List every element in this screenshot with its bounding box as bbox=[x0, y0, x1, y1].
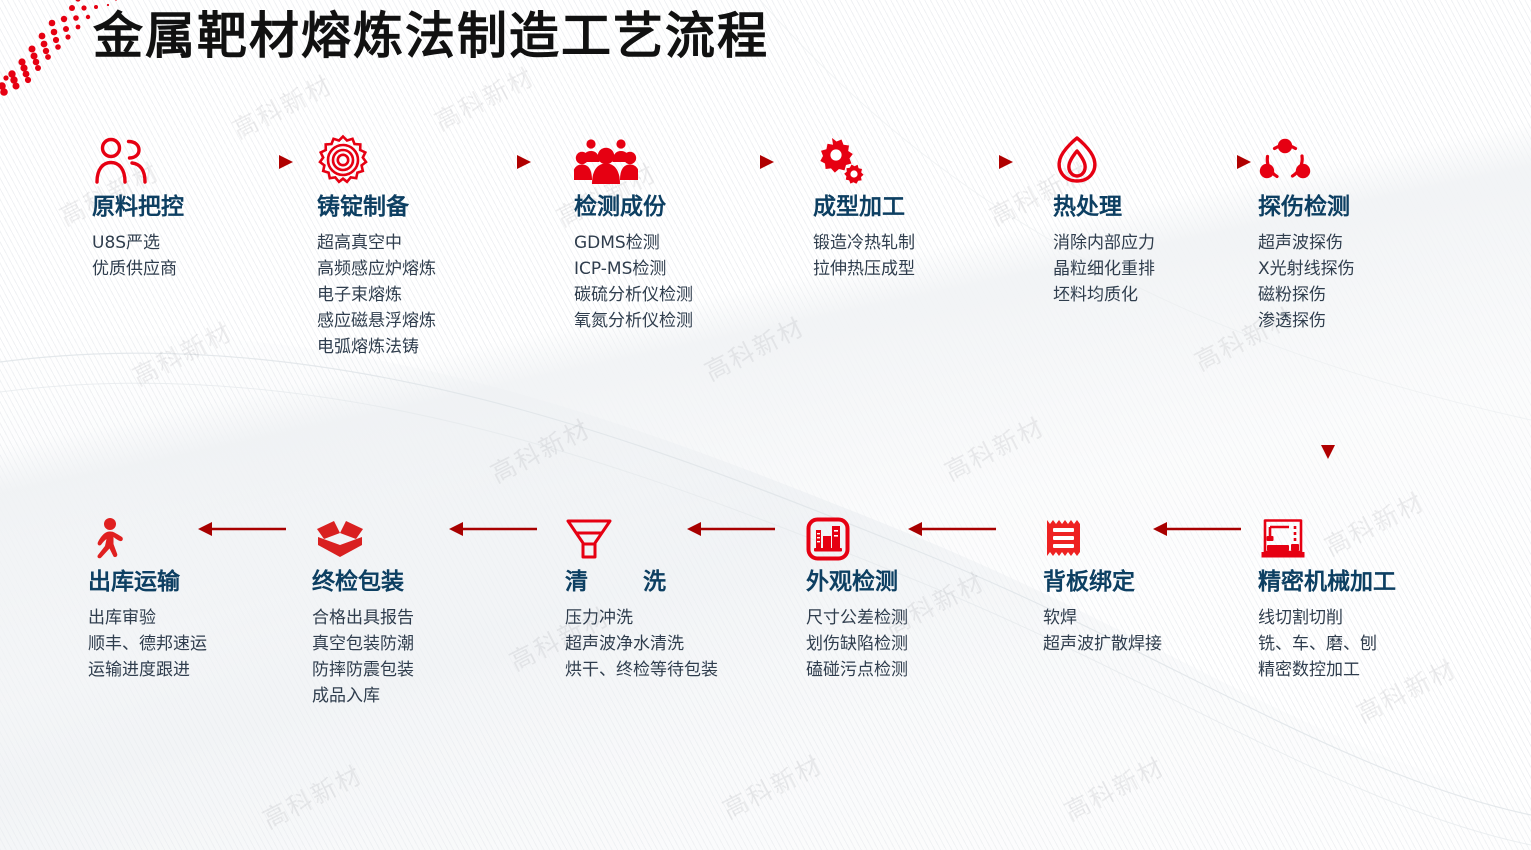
arrow-step3-to-step4 bbox=[686, 152, 776, 172]
two-gears-icon bbox=[813, 130, 915, 186]
step-item: 磁粉探伤 bbox=[1258, 282, 1355, 308]
step-item: X光射线探伤 bbox=[1258, 256, 1355, 282]
step-6[interactable]: 探伤检测 超声波探伤 X光射线探伤 磁粉探伤 渗透探伤 bbox=[1258, 130, 1355, 334]
arrow-step5-to-step6 bbox=[1163, 152, 1253, 172]
factory-badge-icon bbox=[806, 505, 908, 561]
step-4[interactable]: 成型加工 锻造冷热轧制 拉伸热压成型 bbox=[813, 130, 915, 282]
arrow-step7-to-step8 bbox=[1151, 519, 1241, 539]
step-item: 出库审验 bbox=[88, 605, 207, 631]
step-9-title: 外观检测 bbox=[806, 567, 908, 597]
step-item: 顺丰、德邦速运 bbox=[88, 631, 207, 657]
step-3-items: GDMS检测 ICP-MS检测 碳硫分析仪检测 氧氮分析仪检测 bbox=[574, 230, 693, 334]
step-item: 消除内部应力 bbox=[1053, 230, 1155, 256]
step-item: 超声波净水清洗 bbox=[565, 631, 718, 657]
step-5-items: 消除内部应力 晶粒细化重排 坯料均质化 bbox=[1053, 230, 1155, 308]
share-network-icon bbox=[1258, 130, 1355, 186]
step-12-items: 出库审验 顺丰、德邦速运 运输进度跟进 bbox=[88, 605, 207, 683]
step-item: 锻造冷热轧制 bbox=[813, 230, 915, 256]
step-2-items: 超高真空中 高频感应炉熔炼 电子束熔炼 感应磁悬浮熔炼 电弧熔炼法铸 bbox=[317, 230, 436, 360]
step-item: 铣、车、磨、刨 bbox=[1258, 631, 1396, 657]
two-people-icon bbox=[92, 130, 184, 186]
gear-target-icon bbox=[317, 130, 436, 186]
step-item: 优质供应商 bbox=[92, 256, 184, 282]
step-item: GDMS检测 bbox=[574, 230, 693, 256]
step-6-title: 探伤检测 bbox=[1258, 192, 1355, 222]
step-9[interactable]: 外观检测 尺寸公差检测 划伤缺陷检测 磕碰污点检测 bbox=[806, 505, 908, 683]
step-item: 超高真空中 bbox=[317, 230, 436, 256]
page-title: 金属靶材熔炼法制造工艺流程 bbox=[93, 6, 769, 66]
arrow-step4-to-step5 bbox=[925, 152, 1015, 172]
step-8[interactable]: 背板绑定 软焊 超声波扩散焊接 bbox=[1043, 505, 1162, 657]
step-item: 晶粒细化重排 bbox=[1053, 256, 1155, 282]
step-1[interactable]: 原料把控 U8S严选 优质供应商 bbox=[92, 130, 184, 282]
step-item: 渗透探伤 bbox=[1258, 308, 1355, 334]
step-5-title: 热处理 bbox=[1053, 192, 1155, 222]
arrow-step8-to-step9 bbox=[906, 519, 996, 539]
step-3-title: 检测成份 bbox=[574, 192, 693, 222]
step-item: 高频感应炉熔炼 bbox=[317, 256, 436, 282]
step-7-title: 精密机械加工 bbox=[1258, 567, 1396, 597]
arrow-step2-to-step3 bbox=[443, 152, 533, 172]
step-6-items: 超声波探伤 X光射线探伤 磁粉探伤 渗透探伤 bbox=[1258, 230, 1355, 334]
step-item: 坯料均质化 bbox=[1053, 282, 1155, 308]
step-11-title: 终检包装 bbox=[312, 567, 414, 597]
step-2[interactable]: 铸锭制备 超高真空中 高频感应炉熔炼 电子束熔炼 感应磁悬浮熔炼 电弧熔炼法铸 bbox=[317, 130, 436, 360]
step-item: 划伤缺陷检测 bbox=[806, 631, 908, 657]
people-group-icon bbox=[574, 130, 693, 186]
step-10[interactable]: 清 洗 压力冲洗 超声波净水清洗 烘干、终检等待包装 bbox=[565, 505, 718, 683]
step-1-items: U8S严选 优质供应商 bbox=[92, 230, 184, 282]
step-item: 电弧熔炼法铸 bbox=[317, 334, 436, 360]
step-4-items: 锻造冷热轧制 拉伸热压成型 bbox=[813, 230, 915, 282]
step-item: 运输进度跟进 bbox=[88, 657, 207, 683]
funnel-icon bbox=[565, 505, 718, 561]
step-item: 感应磁悬浮熔炼 bbox=[317, 308, 436, 334]
step-7-items: 线切割切削 铣、车、磨、刨 精密数控加工 bbox=[1258, 605, 1396, 683]
step-item: 电子束熔炼 bbox=[317, 282, 436, 308]
arrow-step10-to-step11 bbox=[447, 519, 537, 539]
cnc-machine-icon bbox=[1258, 505, 1396, 561]
step-item: U8S严选 bbox=[92, 230, 184, 256]
step-item: 软焊 bbox=[1043, 605, 1162, 631]
arrow-step11-to-step12 bbox=[196, 519, 286, 539]
step-12[interactable]: 出库运输 出库审验 顺丰、德邦速运 运输进度跟进 bbox=[88, 505, 207, 683]
step-item: 拉伸热压成型 bbox=[813, 256, 915, 282]
step-item: 碳硫分析仪检测 bbox=[574, 282, 693, 308]
step-11[interactable]: 终检包装 合格出具报告 真空包装防潮 防摔防震包装 成品入库 bbox=[312, 505, 414, 709]
walking-person-icon bbox=[88, 505, 207, 561]
step-item: 超声波扩散焊接 bbox=[1043, 631, 1162, 657]
open-box-icon bbox=[312, 505, 414, 561]
step-item: 合格出具报告 bbox=[312, 605, 414, 631]
step-1-title: 原料把控 bbox=[92, 192, 184, 222]
step-item: 防摔防震包装 bbox=[312, 657, 414, 683]
step-item: 氧氮分析仪检测 bbox=[574, 308, 693, 334]
step-11-items: 合格出具报告 真空包装防潮 防摔防震包装 成品入库 bbox=[312, 605, 414, 709]
step-10-title: 清 洗 bbox=[565, 567, 718, 597]
arrow-step6-to-step7 bbox=[1318, 375, 1338, 460]
step-7[interactable]: 精密机械加工 线切割切削 铣、车、磨、刨 精密数控加工 bbox=[1258, 505, 1396, 683]
arrow-step1-to-step2 bbox=[205, 152, 295, 172]
step-item: 精密数控加工 bbox=[1258, 657, 1396, 683]
step-8-items: 软焊 超声波扩散焊接 bbox=[1043, 605, 1162, 657]
step-item: 真空包装防潮 bbox=[312, 631, 414, 657]
step-item: ICP-MS检测 bbox=[574, 256, 693, 282]
step-5[interactable]: 热处理 消除内部应力 晶粒细化重排 坯料均质化 bbox=[1053, 130, 1155, 308]
step-item: 超声波探伤 bbox=[1258, 230, 1355, 256]
step-12-title: 出库运输 bbox=[88, 567, 207, 597]
step-2-title: 铸锭制备 bbox=[317, 192, 436, 222]
step-4-title: 成型加工 bbox=[813, 192, 915, 222]
step-item: 线切割切削 bbox=[1258, 605, 1396, 631]
process-flow: 原料把控 U8S严选 优质供应商 铸锭制备 超高真空中 高频感应炉熔炼 电子束熔… bbox=[0, 0, 1531, 850]
step-item: 尺寸公差检测 bbox=[806, 605, 908, 631]
step-3[interactable]: 检测成份 GDMS检测 ICP-MS检测 碳硫分析仪检测 氧氮分析仪检测 bbox=[574, 130, 693, 334]
step-item: 成品入库 bbox=[312, 683, 414, 709]
step-item: 烘干、终检等待包装 bbox=[565, 657, 718, 683]
page-header: 金属靶材熔炼法制造工艺流程 bbox=[0, 0, 1531, 105]
step-10-items: 压力冲洗 超声波净水清洗 烘干、终检等待包装 bbox=[565, 605, 718, 683]
step-item: 压力冲洗 bbox=[565, 605, 718, 631]
step-9-items: 尺寸公差检测 划伤缺陷检测 磕碰污点检测 bbox=[806, 605, 908, 683]
step-8-title: 背板绑定 bbox=[1043, 567, 1162, 597]
step-item: 磕碰污点检测 bbox=[806, 657, 908, 683]
receipt-icon bbox=[1043, 505, 1162, 561]
flame-icon bbox=[1053, 130, 1155, 186]
